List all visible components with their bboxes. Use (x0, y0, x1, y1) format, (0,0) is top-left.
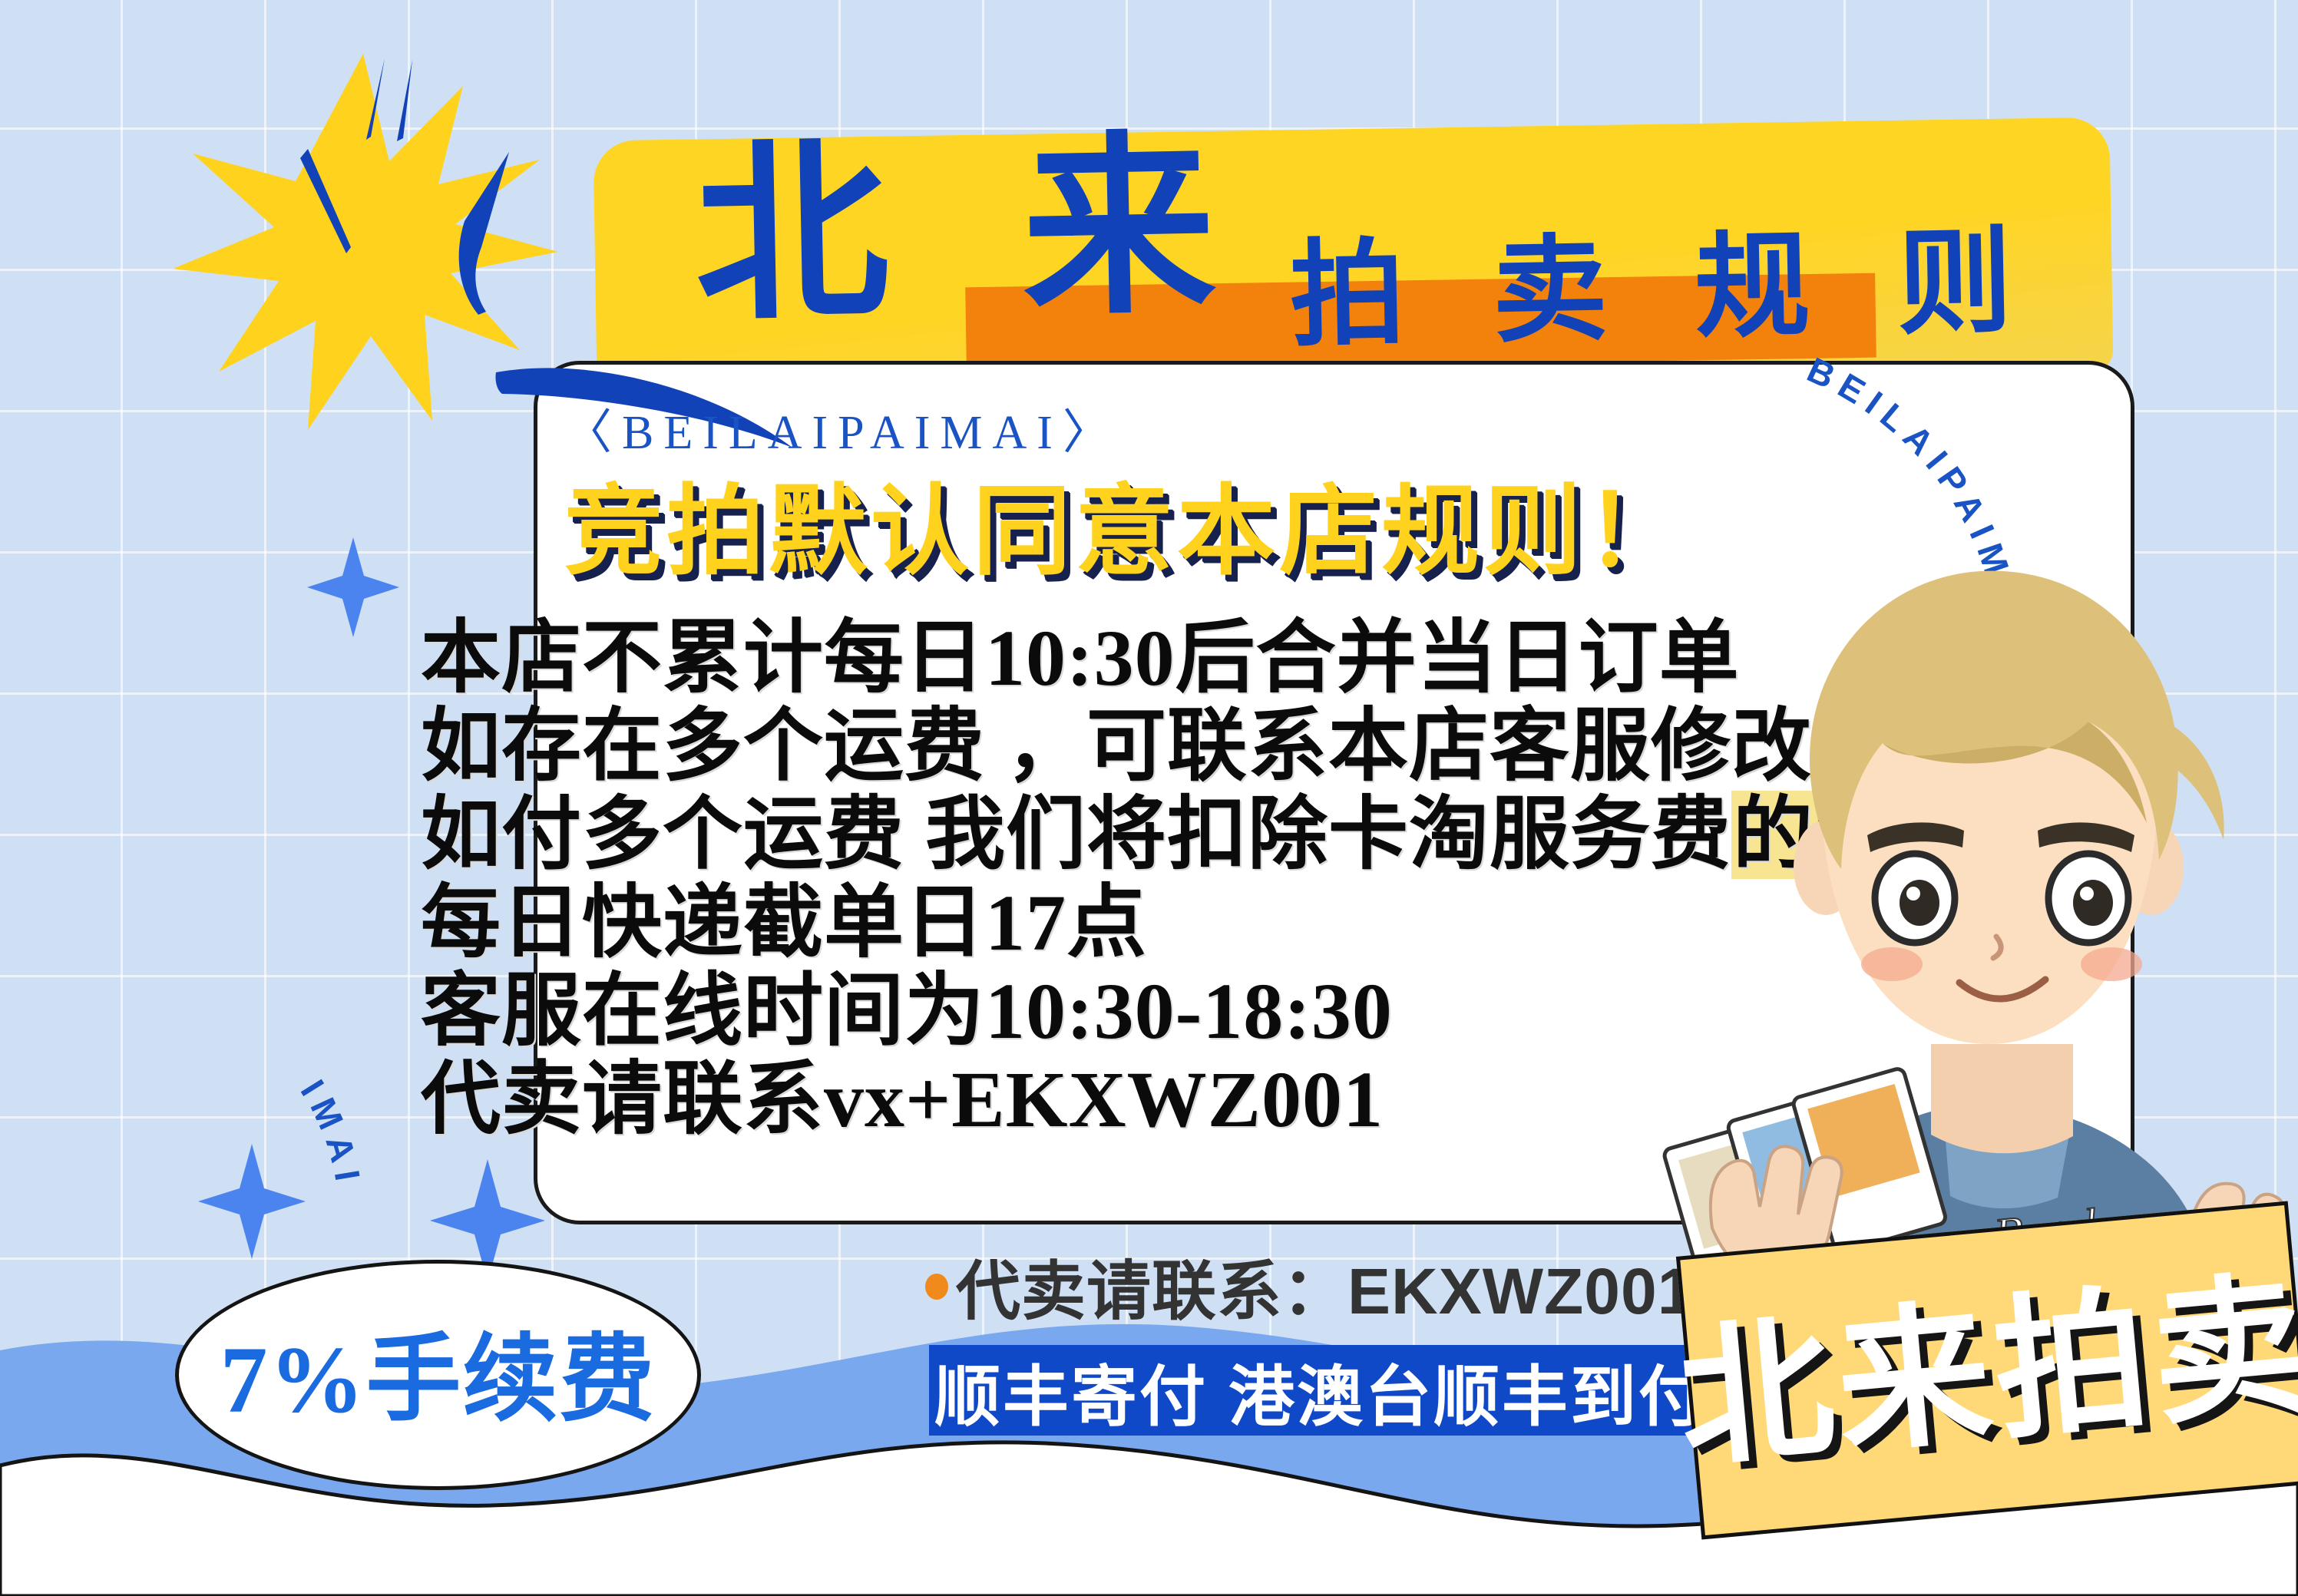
rule-line: 代卖请联系vx+EKXWZ001 (421, 1056, 1741, 1144)
fee-badge: 7%手续费 (175, 1260, 701, 1490)
rules-list: 本店不累计每日10:30后合并当日订单 如存在多个运费 ，可联系本店客服修改 如… (421, 614, 1741, 1144)
rule-line-pre: 如付多个运费 我们将扣除卡淘服务费 (421, 791, 1731, 879)
bottom-brand-badge: 北来拍卖 (1676, 1201, 2298, 1540)
poster-root: 北 来 拍 卖 规 则 〈BEILAIPAIMAI〉 竞拍默认同意本店规则！ 本… (0, 0, 2298, 1596)
bullet-dot-icon (925, 1274, 948, 1300)
rule-line: 如存在多个运费 ，可联系本店客服修改 (421, 702, 1741, 791)
rule-line: 每日快递截单日17点 (421, 879, 1741, 967)
bottom-brand-badge-text: 北来拍卖 (1668, 1218, 2298, 1497)
star-decoration (307, 537, 399, 637)
contact-line: 代卖请联系：EKXWZ001 (925, 1240, 1694, 1333)
rule-line: 本店不累计每日10:30后合并当日订单 (421, 614, 1741, 702)
page-title-main: 北 来 (693, 129, 1258, 333)
page-title-sub: 拍 卖 规 则 (1289, 223, 2042, 353)
headline-banner: 竞拍默认同意本店规则！ (564, 451, 1688, 593)
star-decoration (198, 1144, 306, 1259)
fee-badge-text: 7%手续费 (220, 1301, 656, 1439)
rule-line: 如付多个运费 我们将扣除卡淘服务费的7%退还 (421, 791, 1741, 879)
rule-line: 客服在线时间为10:30-18:30 (421, 967, 1741, 1056)
